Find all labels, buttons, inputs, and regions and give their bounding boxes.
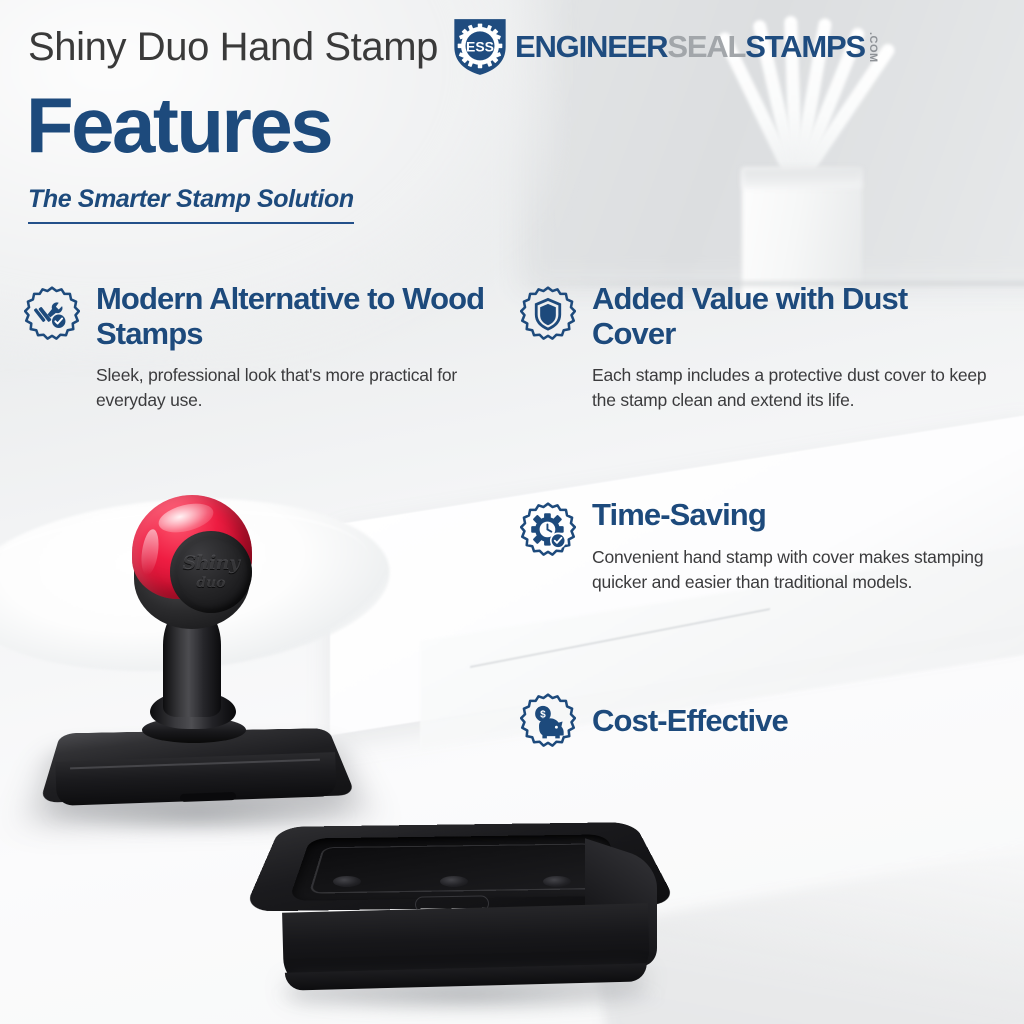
shield-badge-icon xyxy=(520,286,576,342)
logo-wordmark: ENGINEER SEAL STAMPS .COM xyxy=(515,31,878,63)
product-image-hand-stamp: Shiny duo xyxy=(30,495,360,825)
ess-badge-text: ESS xyxy=(466,38,494,54)
feature-item-time-saving: Time-Saving Convenient hand stamp with c… xyxy=(520,498,990,594)
tools-check-badge-icon xyxy=(24,286,80,342)
subtitle: The Smarter Stamp Solution xyxy=(28,185,354,222)
logo-word-dotcom: .COM xyxy=(867,32,878,63)
dust-cover-boss xyxy=(543,876,571,887)
stamp-cap-brand-line1: Shiny xyxy=(182,554,239,573)
subtitle-group: The Smarter Stamp Solution xyxy=(28,185,354,224)
piggy-bank-badge-icon: $ xyxy=(520,693,576,749)
subtitle-underline xyxy=(28,222,354,224)
feature-description: Each stamp includes a protective dust co… xyxy=(592,363,990,413)
header: Shiny Duo Hand Stamp xyxy=(0,0,1024,224)
feature-description: Convenient hand stamp with cover makes s… xyxy=(592,545,990,595)
feature-text-block: Modern Alternative to Wood Stamps Sleek,… xyxy=(96,282,502,413)
logo-word-stamps: STAMPS xyxy=(745,31,865,62)
feature-text-block: Time-Saving Convenient hand stamp with c… xyxy=(592,498,990,594)
dust-cover-boss xyxy=(440,876,468,887)
logo-word-engineer: ENGINEER xyxy=(515,31,667,62)
feature-item-modern-alternative: Modern Alternative to Wood Stamps Sleek,… xyxy=(24,282,502,413)
stamp-side-cap: Shiny duo xyxy=(170,531,252,613)
feature-title: Modern Alternative to Wood Stamps xyxy=(96,282,502,351)
dust-cover-boss xyxy=(333,876,361,887)
feature-item-added-value-dust-cover: Added Value with Dust Cover Each stamp i… xyxy=(520,282,990,413)
feature-title: Time-Saving xyxy=(592,498,990,533)
feature-text-block: Cost-Effective xyxy=(592,693,990,749)
title-row: Shiny Duo Hand Stamp xyxy=(28,18,996,76)
ess-shield-gear-icon: ESS xyxy=(452,18,508,76)
clock-gear-check-badge-icon xyxy=(520,502,576,558)
feature-text-block: Added Value with Dust Cover Each stamp i… xyxy=(592,282,990,413)
product-title: Shiny Duo Hand Stamp xyxy=(28,25,438,69)
engineer-seal-stamps-logo[interactable]: ESS ENGINEER SEAL STAMPS .COM xyxy=(452,18,878,76)
feature-title: Cost-Effective xyxy=(592,704,788,739)
page-title: Features xyxy=(26,88,996,163)
feature-title: Added Value with Dust Cover xyxy=(592,282,990,351)
stamp-cap-brand-line2: duo xyxy=(196,576,225,590)
logo-word-seal: SEAL xyxy=(667,31,745,62)
feature-item-cost-effective: $ Cost-Effective xyxy=(520,693,990,749)
product-image-dust-cover xyxy=(255,780,665,1024)
infographic-canvas: Shiny Duo Hand Stamp xyxy=(0,0,1024,1024)
feature-description: Sleek, professional look that's more pra… xyxy=(96,363,502,413)
